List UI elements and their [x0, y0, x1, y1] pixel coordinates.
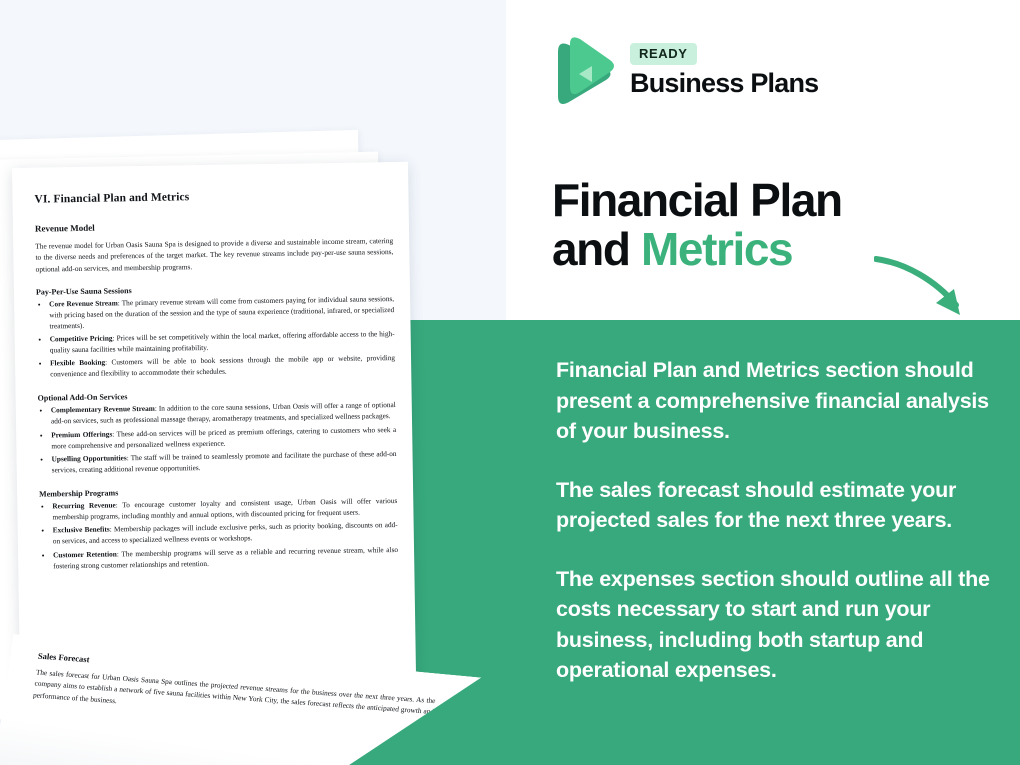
- revenue-model-heading: Revenue Model: [35, 218, 393, 234]
- document-bullet-list: Recurring Revenue: To encourage customer…: [52, 496, 398, 572]
- play-triangle-logo-icon: [548, 34, 616, 108]
- document-title: VI. Financial Plan and Metrics: [34, 188, 392, 206]
- document-page-front: VI. Financial Plan and Metrics Revenue M…: [12, 162, 416, 688]
- document-bullet: Premium Offerings: These add-on services…: [51, 425, 396, 452]
- document-bullet: Competitive Pricing: Prices will be set …: [50, 329, 395, 356]
- bullet-term: Upselling Opportunities: [52, 453, 127, 463]
- curved-arrow-down-right-icon: [874, 253, 984, 325]
- body-copy: Financial Plan and Metrics section shoul…: [556, 355, 1008, 686]
- bullet-term: Premium Offerings: [51, 429, 112, 439]
- document-bullet: Customer Retention: The membership progr…: [53, 545, 398, 572]
- brand-name: Business Plans: [630, 68, 818, 99]
- body-paragraph: Financial Plan and Metrics section shoul…: [556, 355, 1008, 447]
- document-body: VI. Financial Plan and Metrics Revenue M…: [34, 188, 398, 572]
- bullet-term: Core Revenue Stream: [49, 298, 118, 308]
- document-bullet-list: Core Revenue Stream: The primary revenue…: [49, 294, 395, 381]
- document-stack: V Re The inc stre Pay Op M VI. Financial…: [0, 0, 560, 765]
- document-bullet: Core Revenue Stream: The primary revenue…: [49, 294, 394, 332]
- document-bullet-list: Complementary Revenue Stream: In additio…: [51, 400, 397, 476]
- body-paragraph: The sales forecast should estimate your …: [556, 475, 1008, 536]
- bullet-term: Competitive Pricing: [50, 334, 113, 344]
- bullet-term: Flexible Booking: [50, 358, 105, 368]
- document-bullet: Exclusive Benefits: Membership packages …: [53, 520, 398, 547]
- bullet-term: Exclusive Benefits: [53, 525, 110, 535]
- brand-wordmark: READY Business Plans: [630, 43, 818, 99]
- headline-line-1: Financial Plan: [552, 174, 842, 226]
- document-bullet: Complementary Revenue Stream: In additio…: [51, 400, 396, 427]
- right-column: READY Business Plans Financial Plan and …: [548, 0, 1020, 765]
- ready-badge: READY: [630, 43, 697, 65]
- bullet-term: Complementary Revenue Stream: [51, 404, 155, 415]
- document-bullet: Upselling Opportunities: The staff will …: [52, 449, 397, 476]
- document-sections: Pay-Per-Use Sauna SessionsCore Revenue S…: [36, 282, 398, 572]
- document-page-surface: VI. Financial Plan and Metrics Revenue M…: [12, 162, 416, 688]
- bullet-term: Recurring Revenue: [52, 500, 116, 510]
- document-bullet: Flexible Booking: Customers will be able…: [50, 353, 395, 380]
- headline-line-2-accent: Metrics: [641, 223, 792, 275]
- bullet-term: Customer Retention: [53, 549, 117, 559]
- brand-logo[interactable]: READY Business Plans: [548, 34, 818, 108]
- slide-canvas: V Re The inc stre Pay Op M VI. Financial…: [0, 0, 1020, 765]
- headline-line-2-plain: and: [552, 223, 641, 275]
- body-paragraph: The expenses section should outline all …: [556, 564, 1008, 686]
- document-bullet: Recurring Revenue: To encourage customer…: [52, 496, 397, 523]
- revenue-model-body: The revenue model for Urban Oasis Sauna …: [35, 235, 393, 274]
